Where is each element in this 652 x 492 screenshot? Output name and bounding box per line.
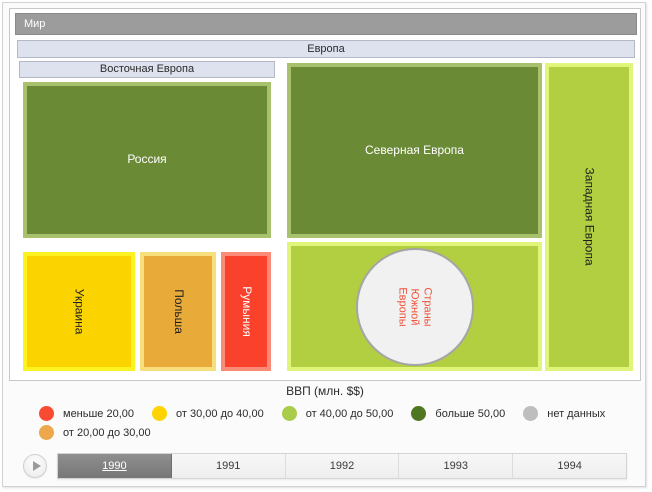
timeline-steps[interactable]: 19901991199219931994: [57, 453, 627, 479]
treemap-tile-north-europe-label: Северная Европа: [365, 144, 464, 157]
timeline-step-1991[interactable]: 1991: [172, 454, 286, 478]
timeline-step-label: 1994: [557, 460, 581, 472]
treemap-header-world[interactable]: Мир: [15, 13, 637, 35]
treemap-tile-poland-fill: Польша: [144, 256, 212, 367]
treemap-tile-west-europe-label: Западная Европа: [582, 168, 595, 266]
timeline-step-label: 1993: [444, 460, 468, 472]
timeline-step-1993[interactable]: 1993: [399, 454, 513, 478]
legend-color-swatch: [152, 406, 167, 421]
legend-item-label: от 30,00 до 40,00: [176, 408, 264, 420]
legend-item-label: меньше 20,00: [63, 408, 134, 420]
legend-color-swatch: [282, 406, 297, 421]
legend-color-swatch: [523, 406, 538, 421]
timeline-step-1990[interactable]: 1990: [58, 454, 172, 478]
legend-item[interactable]: от 30,00 до 40,00: [152, 404, 264, 423]
legend-item-label: от 20,00 до 30,00: [63, 427, 151, 439]
treemap-bubble-south-europe-label: СтраныЮжнойЕвропы: [396, 287, 434, 326]
treemap-header-world-label: Мир: [24, 19, 45, 30]
timeline-step-label: 1990: [102, 460, 126, 472]
treemap-tile-north-europe[interactable]: Северная Европа: [287, 63, 542, 238]
treemap-application: Мир Европа Восточная Европа Россия Украи…: [0, 0, 652, 492]
treemap-panel[interactable]: Мир Европа Восточная Европа Россия Украи…: [9, 8, 641, 381]
treemap-tile-north-europe-fill: Северная Европа: [291, 67, 538, 234]
play-icon: [33, 461, 41, 471]
treemap-tile-romania[interactable]: Румыния: [221, 252, 271, 371]
treemap-header-east-europe-label: Восточная Европа: [100, 64, 194, 75]
timeline-step-1994[interactable]: 1994: [513, 454, 626, 478]
timeline-step-1992[interactable]: 1992: [286, 454, 400, 478]
legend-color-swatch: [411, 406, 426, 421]
treemap-tile-russia-fill: Россия: [27, 86, 267, 234]
legend-color-swatch: [39, 406, 54, 421]
legend-items: меньше 20,00от 30,00 до 40,00от 40,00 до…: [39, 404, 641, 442]
legend-item[interactable]: меньше 20,00: [39, 404, 134, 423]
legend-item[interactable]: от 40,00 до 50,00: [282, 404, 394, 423]
treemap-tile-russia[interactable]: Россия: [23, 82, 271, 238]
legend-item[interactable]: от 20,00 до 30,00: [39, 423, 151, 442]
play-button[interactable]: [23, 454, 47, 478]
timeline-step-label: 1992: [330, 460, 354, 472]
treemap-tile-south-europe-fill: СтраныЮжнойЕвропы: [291, 246, 538, 367]
treemap-tile-west-europe[interactable]: Западная Европа: [545, 63, 633, 371]
timeline-step-label: 1991: [216, 460, 240, 472]
legend-item-label: от 40,00 до 50,00: [306, 408, 394, 420]
window-frame: Мир Европа Восточная Европа Россия Украи…: [2, 2, 646, 487]
treemap-tile-south-europe[interactable]: СтраныЮжнойЕвропы: [287, 242, 542, 371]
treemap-tile-romania-label: Румыния: [239, 286, 252, 337]
legend: ВВП (млн. $$) меньше 20,00от 30,00 до 40…: [9, 384, 641, 442]
timeline-player: 19901991199219931994: [9, 446, 641, 486]
treemap-tile-ukraine-fill: Украина: [27, 256, 131, 367]
treemap-tile-russia-label: Россия: [127, 153, 166, 166]
legend-item[interactable]: больше 50,00: [411, 404, 505, 423]
treemap-tile-poland[interactable]: Польша: [140, 252, 216, 371]
legend-item-label: больше 50,00: [435, 408, 505, 420]
treemap-header-europe-label: Европа: [307, 44, 345, 55]
legend-color-swatch: [39, 425, 54, 440]
legend-title: ВВП (млн. $$): [9, 384, 641, 398]
treemap-tile-ukraine[interactable]: Украина: [23, 252, 135, 371]
treemap-header-europe[interactable]: Европа: [17, 40, 635, 58]
treemap-header-east-europe[interactable]: Восточная Европа: [19, 61, 275, 78]
treemap-tile-poland-label: Польша: [171, 289, 184, 334]
treemap-tile-ukraine-label: Украина: [72, 289, 85, 335]
treemap-tile-west-europe-fill: Западная Европа: [549, 67, 629, 367]
legend-item[interactable]: нет данных: [523, 404, 605, 423]
treemap-tile-romania-fill: Румыния: [225, 256, 267, 367]
legend-item-label: нет данных: [547, 408, 605, 420]
treemap-bubble-south-europe[interactable]: СтраныЮжнойЕвропы: [356, 248, 474, 366]
